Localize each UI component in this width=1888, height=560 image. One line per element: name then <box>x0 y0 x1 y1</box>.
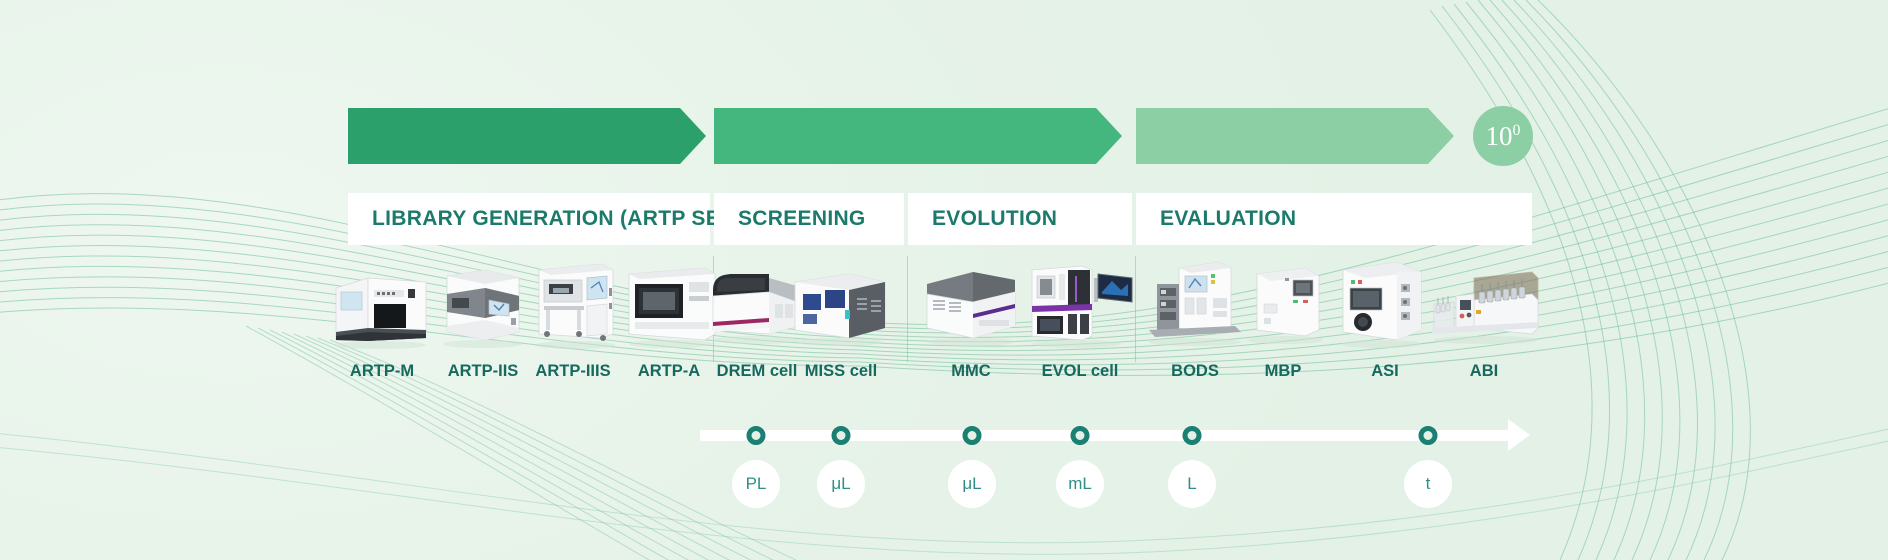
device-image-evol-cell <box>1020 248 1140 352</box>
band-shape <box>348 108 706 164</box>
stage-label-text: SCREENING <box>738 207 866 231</box>
device-label-mbp: MBP <box>1265 362 1302 381</box>
stage-screening[interactable]: SCREENING <box>714 193 904 245</box>
device-label-artp-iis: ARTP-IIS <box>448 362 519 381</box>
unit-badge-pl[interactable]: PL <box>732 460 780 508</box>
band-screening[interactable]: 104-5 <box>714 108 1122 164</box>
device-label-abi: ABI <box>1470 362 1498 381</box>
device-label-bods: BODS <box>1171 362 1219 381</box>
device-label-artp-a: ARTP-A <box>638 362 700 381</box>
section-divider <box>907 256 908 362</box>
endpoint-badge-label: 100 <box>1486 121 1521 152</box>
device-evol-cell[interactable] <box>1020 248 1140 358</box>
band-shape <box>714 108 1122 164</box>
device-label-mmc: MMC <box>951 362 990 381</box>
device-label-evol-cell: EVOL cell <box>1042 362 1119 381</box>
device-abi[interactable] <box>1424 248 1544 358</box>
unit-badge-ul-1[interactable]: μL <box>817 460 865 508</box>
stage-library-generation[interactable]: LIBRARY GENERATION (ARTP SERIES) <box>348 193 710 245</box>
stage-evaluation[interactable]: EVALUATION <box>1136 193 1532 245</box>
axis-node-t[interactable] <box>1419 426 1438 445</box>
band-library-generation[interactable]: 106-7 <box>348 108 706 164</box>
device-image-mmc <box>911 248 1031 352</box>
device-mmc[interactable] <box>911 248 1031 358</box>
stage-label-text: EVOLUTION <box>932 207 1057 231</box>
device-label-drem-cell: DREM cell <box>717 362 798 381</box>
axis-node-ml[interactable] <box>1071 426 1090 445</box>
device-image-abi <box>1424 248 1544 352</box>
stage-label-text: EVALUATION <box>1160 207 1296 231</box>
axis-arrow-head <box>1508 419 1530 451</box>
stage-evolution[interactable]: EVOLUTION <box>908 193 1132 245</box>
magnitude-band-row: 106-7 104-5 101-2 100 <box>0 108 1888 168</box>
workflow-infographic: 106-7 104-5 101-2 100 LIBRARY GENERATION… <box>0 0 1888 560</box>
axis-node-pl[interactable] <box>747 426 766 445</box>
stage-label-row: LIBRARY GENERATION (ARTP SERIES) SCREENI… <box>0 193 1888 245</box>
unit-badge-ml[interactable]: mL <box>1056 460 1104 508</box>
unit-badge-t[interactable]: t <box>1404 460 1452 508</box>
axis-node-l[interactable] <box>1183 426 1202 445</box>
unit-badge-ul-2[interactable]: μL <box>948 460 996 508</box>
axis-line <box>700 430 1508 441</box>
axis-node-ul-2[interactable] <box>963 426 982 445</box>
device-label-artp-m: ARTP-M <box>350 362 414 381</box>
device-label-asi: ASI <box>1371 362 1399 381</box>
volume-scale-axis: PL μL μL mL L t <box>0 412 1888 522</box>
band-evaluation[interactable]: 101-2 <box>1136 108 1454 164</box>
device-label-row: ARTP-M ARTP-IIS ARTP-IIIS ARTP-A DREM ce… <box>0 362 1888 390</box>
device-miss-cell[interactable] <box>781 248 901 358</box>
device-image-miss-cell <box>781 248 901 352</box>
device-label-miss-cell: MISS cell <box>805 362 877 381</box>
band-shape <box>1136 108 1454 164</box>
unit-badge-l[interactable]: L <box>1168 460 1216 508</box>
endpoint-badge[interactable]: 100 <box>1473 106 1533 166</box>
axis-node-ul-1[interactable] <box>832 426 851 445</box>
device-row <box>0 248 1888 378</box>
device-label-artp-iiis: ARTP-IIIS <box>535 362 610 381</box>
